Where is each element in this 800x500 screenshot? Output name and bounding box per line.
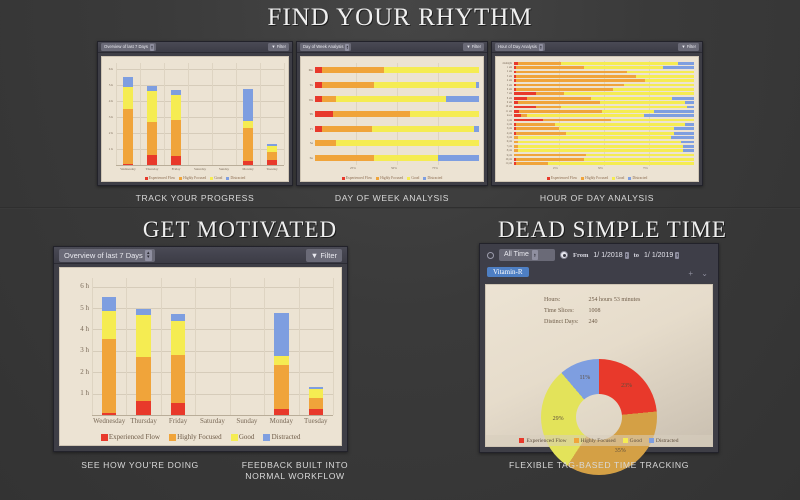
stepper-icon[interactable]: ▴▾ [675,252,679,259]
legend-item: Experienced Flow [145,176,175,180]
donut-legend: Experienced FlowHighly FocusedGoodDistra… [486,435,712,446]
legend-label: Good [214,176,222,180]
caption-flexible-tag-tracking: FLEXIBLE TAG-BASED TIME TRACKING [479,460,719,471]
bar-segment [147,91,157,122]
bar-segment [384,67,479,73]
titlebar: Overview of last 7 Days ▴▾ ▼ Filter [54,247,347,264]
y-axis-tick: 7 am [507,92,512,95]
bar-segment [267,144,277,146]
x-axis-tick: 25% [553,167,558,170]
y-axis-tick: 5 pm [507,136,512,139]
section-divider [0,207,800,209]
to-label: to [634,252,639,259]
legend-swatch [519,438,524,443]
bar-segment [683,145,694,148]
chart-canvas-day-of-week: 25%50%75%MoTuWeThFrSaSu Experienced Flow… [300,56,484,182]
bar-row [514,92,694,95]
bar-segment [171,95,181,121]
legend-label: Good [239,433,255,441]
chart-legend: Experienced FlowHighly FocusedGoodDistra… [60,433,341,441]
bar-column [309,278,323,415]
stepper-icon[interactable]: ▴▾ [532,250,538,260]
section-title-get-motivated: GET MOTIVATED [20,217,460,243]
bar-row [514,141,694,144]
legend-swatch [574,438,579,443]
page-title: FIND YOUR RHYTHM [0,4,800,32]
all-time-label: All Time [504,249,529,261]
legend-swatch [376,177,379,180]
bar-segment [322,96,337,102]
bar-segment [171,314,185,320]
y-axis-tick: 10 pm [505,158,512,161]
y-axis-tick: 4 h [109,99,113,103]
titlebar: Hour of Day Analysis ▴▾ ▼ Filter [492,42,702,53]
bar-segment [516,162,548,165]
caption-track-your-progress: TRACK YOUR PROGRESS [97,193,293,204]
legend-label: Distracted [272,433,301,441]
stats-value: 1008 [589,307,649,316]
bar-segment [446,96,479,102]
y-axis-tick: 3 am [507,75,512,78]
hod-dropdown[interactable]: Hour of Day Analysis ▴▾ [495,43,545,51]
bar-segment [644,114,694,117]
bar-segment [243,121,253,128]
y-axis-tick: Th [309,112,313,116]
legend-item: Distracted [628,176,647,180]
bar-segment [102,339,116,413]
y-axis-tick: 1 pm [507,119,512,122]
gridline [333,278,334,415]
overview-dropdown[interactable]: Overview of last 7 Days ▴▾ [101,43,156,51]
gridline [92,278,93,415]
stats-row: Time Slices:1008 [544,307,648,316]
gridline [116,63,117,165]
bar-segment [519,110,602,113]
gridline [188,63,189,165]
bar-segment [336,140,479,146]
bar-segment [611,119,694,122]
caption-feedback-line2: NORMAL WORKFLOW [225,471,365,482]
bar-segment [591,97,672,100]
bar-segment [267,152,277,160]
stats-key: Distinct Days: [544,318,587,327]
bar-segment [102,413,116,415]
legend-item: Experienced Flow [519,438,566,444]
bar-row [514,158,694,161]
gridline [140,63,141,165]
bar-segment [559,127,674,130]
bar-row [514,123,694,126]
stepper-icon[interactable]: ▴▾ [625,252,629,259]
y-axis-tick: 3 pm [507,127,512,130]
bar-segment [681,141,694,144]
bar-segment [123,77,133,87]
legend-label: Highly Focused [183,176,206,180]
legend-swatch [581,177,584,180]
bar-segment [136,315,150,357]
chart-legend: Experienced FlowHighly FocusedGoodDistra… [301,176,483,180]
donut-percent-label: 35% [612,448,628,454]
bar-segment [516,66,584,69]
y-axis-tick: 1 am [507,66,512,69]
bar-segment [514,119,543,122]
legend-swatch [423,177,426,180]
bar-segment [147,86,157,91]
bar-row [315,111,479,117]
legend-swatch [612,177,615,180]
bar-segment [518,145,684,148]
bar-column [205,278,219,415]
stepper-icon[interactable]: ▴▾ [345,44,349,51]
bar-segment [518,149,684,152]
bar-segment [274,365,288,409]
bar-segment [564,92,694,95]
window-track-your-progress[interactable]: Overview of last 7 Days ▴▾ ▼ Filter 1 h2… [97,41,293,186]
axis-line [92,415,333,416]
bar-segment [683,149,694,152]
y-axis-tick: We [309,98,313,102]
stats-value: 240 [589,318,649,327]
caption-day-of-week: DAY OF WEEK ANALYSIS [296,193,488,204]
legend-swatch [145,177,148,180]
y-axis-tick: 4 pm [507,132,512,135]
filter-label: Filter [277,44,286,49]
bar-segment [267,146,277,152]
bar-segment [333,111,410,117]
x-axis-tick: 25% [350,166,356,170]
stats-value: 254 hours 53 minutes [589,296,649,305]
bar-column [240,278,254,415]
legend-item: Distracted [423,176,442,180]
y-axis-tick: 1 h [109,147,113,151]
x-axis-tick: 50% [598,167,603,170]
bar-segment [518,141,682,144]
dow-dropdown[interactable]: Day of Week Analysis ▴▾ [300,43,351,51]
date-from-field[interactable]: 1/ 1/2018 ▴▾ [593,252,628,259]
funnel-icon: ▼ [311,251,318,260]
legend-label: Experienced Flow [149,176,175,180]
bar-row [514,149,694,152]
y-axis-tick: Su [310,156,313,160]
all-time-dropdown[interactable]: All Time ▴▾ [499,249,555,261]
bar-segment [136,309,150,315]
date-to-value: 1/ 1/2019 [644,252,673,259]
bar-segment [518,136,671,139]
bar-segment [171,156,181,165]
bar-segment [561,62,678,65]
legend-label: Distracted [428,176,443,180]
bar-segment [438,155,479,161]
bar-segment [309,398,323,409]
bar-segment [555,123,685,126]
bar-segment [243,161,253,165]
legend-item: Highly Focused [169,433,222,441]
plot-area: 25%50%75%midnight1 am2 am3 am4 am5 am6 a… [496,57,698,181]
plot-area: 1 h2 h3 h4 h5 h6 hWednesdayThursdayFrida… [102,57,288,181]
legend-swatch [231,434,238,441]
stats-key: Time Slices: [544,307,587,316]
gridline [126,278,127,415]
legend-label: Good [616,176,624,180]
legend-item: Good [612,176,624,180]
filter-label: Filter [472,44,481,49]
bar-column [267,63,277,165]
gridline [164,63,165,165]
bar-segment [600,101,685,104]
window-overview-7-days[interactable]: Overview of last 7 Days ▴▾ ▼ Filter 1 h2… [53,246,348,452]
bar-row [514,114,694,117]
overview-dropdown-large[interactable]: Overview of last 7 Days ▴▾ [59,249,155,262]
bar-segment [136,401,150,415]
filter-label: Filter [687,44,696,49]
bar-segment [516,84,624,87]
bar-segment [171,120,181,156]
bar-segment [171,403,185,415]
donut-percent-label: 23% [619,383,635,389]
bar-segment [322,67,384,73]
bar-segment [243,128,253,161]
chart-canvas-hour-of-day: 25%50%75%midnight1 am2 am3 am4 am5 am6 a… [495,56,699,182]
legend-swatch [226,177,229,180]
stepper-icon[interactable]: ▴▾ [145,250,152,261]
chart-canvas-overview-large: 1 h2 h3 h4 h5 h6 hWednesdayThursdayFrida… [59,267,342,446]
caption-feedback-line1: FEEDBACK BUILT INTO [225,460,365,471]
bar-segment [474,126,479,132]
legend-item: Highly Focused [376,176,403,180]
bar-row [514,97,694,100]
bar-column [171,63,181,165]
radio-range-off[interactable] [487,252,494,259]
legend-item: Good [623,438,642,444]
date-to-field[interactable]: 1/ 1/2019 ▴▾ [644,252,679,259]
bar-row [514,136,694,139]
bar-segment [514,154,586,157]
radio-range-on[interactable] [560,251,568,259]
bar-row [315,155,479,161]
x-axis-tick: 50% [391,166,397,170]
bar-row [514,127,694,130]
bar-segment [123,87,133,109]
y-axis-tick: 9 pm [507,154,512,157]
bar-segment [561,106,687,109]
bar-column [136,278,150,415]
bar-segment [322,82,374,88]
bar-row [315,96,479,102]
filter-button[interactable]: ▼ Filter [268,43,289,51]
bar-row [514,62,694,65]
bar-column [195,63,205,165]
bar-segment [476,82,479,88]
bar-segment [586,154,694,157]
bar-segment [685,123,694,126]
bar-segment [663,66,694,69]
bar-segment [514,92,536,95]
bar-segment [536,92,565,95]
stats-row: Distinct Days:240 [544,318,648,327]
legend-swatch [649,438,654,443]
dow-dropdown-label: Day of Week Analysis [303,43,343,51]
bar-segment [123,164,133,165]
bar-row [315,140,479,146]
legend-label: Good [630,438,642,444]
y-axis-tick: midnight [503,62,512,65]
chart-canvas-overview-small: 1 h2 h3 h4 h5 h6 hWednesdayThursdayFrida… [101,56,289,182]
bar-segment [514,97,527,100]
y-axis-tick: 6 am [507,88,512,91]
bar-segment [267,160,277,165]
y-axis-tick: 6 h [80,282,89,290]
y-axis-tick: 2 h [80,368,89,376]
bar-segment [602,110,654,113]
bar-segment [274,409,288,415]
from-label: From [573,252,588,259]
y-axis-tick: 2 pm [507,123,512,126]
hod-dropdown-label: Hour of Day Analysis [498,43,537,51]
bar-segment [687,106,694,109]
window-tag-time-tracking[interactable]: All Time ▴▾ From 1/ 1/2018 ▴▾ to 1/ 1/20… [479,243,719,453]
y-axis-tick: 11 am [506,110,512,113]
donut-percent-label: 11% [577,375,593,381]
tracking-body: Hours:254 hours 53 minutesTime Slices:10… [485,284,713,447]
bar-row [514,119,694,122]
y-axis-tick: 6 h [109,67,113,71]
bar-segment [374,82,476,88]
bar-row [315,67,479,73]
bar-row [315,126,479,132]
bar-segment [147,122,157,155]
y-axis-tick: 8 pm [507,149,512,152]
bar-row [514,84,694,87]
gridline [212,63,213,165]
bar-segment [102,311,116,340]
stepper-icon[interactable]: ▴▾ [539,44,543,51]
y-axis-tick: Mo [309,68,313,72]
bar-segment [613,88,694,91]
y-axis-tick: 5 h [80,304,89,312]
bar-row [514,101,694,104]
x-axis-tick: Tuesday [175,417,456,425]
titlebar: Day of Week Analysis ▴▾ ▼ Filter [297,42,487,53]
legend-item: Good [231,433,255,441]
legend-swatch [628,177,631,180]
legend-label: Distracted [633,176,648,180]
bar-segment [309,389,323,398]
chart-legend: Experienced FlowHighly FocusedGoodDistra… [496,176,698,180]
bar-column [102,278,116,415]
donut-chart: 23%35%29%11% [541,359,657,475]
filter-button[interactable]: ▼ Filter [678,43,699,51]
y-axis-tick: 6 pm [507,140,512,143]
legend-item: Experienced Flow [547,176,577,180]
legend-swatch [179,177,182,180]
legend-label: Highly Focused [581,438,616,444]
tag-vitamin-r[interactable]: Vitamin-R [487,267,529,277]
x-axis-tick: 75% [432,166,438,170]
y-axis-tick: 8 am [507,97,512,100]
legend-swatch [169,434,176,441]
gridline [236,63,237,165]
bar-segment [171,90,181,95]
bar-segment [171,321,185,355]
stats-row: Hours:254 hours 53 minutes [544,296,648,305]
bar-row [514,71,694,74]
bar-segment [410,111,479,117]
bar-segment [516,71,628,74]
axis-line [116,165,284,166]
y-axis-tick: 1 h [80,389,89,397]
bar-segment [516,123,556,126]
legend-swatch [263,434,270,441]
window-day-of-week-analysis[interactable]: Day of Week Analysis ▴▾ ▼ Filter 25%50%7… [296,41,488,186]
gridline [195,278,196,415]
window-hour-of-day-analysis[interactable]: Hour of Day Analysis ▴▾ ▼ Filter 25%50%7… [491,41,703,186]
bar-segment [336,96,446,102]
y-axis-tick: 4 h [80,325,89,333]
bar-segment [514,114,521,117]
bar-segment [516,75,637,78]
bar-segment [518,62,561,65]
legend-item: Good [210,176,222,180]
filter-button[interactable]: ▼ Filter [306,249,342,262]
date-from-value: 1/ 1/2018 [593,252,622,259]
funnel-icon: ▼ [681,44,685,49]
bar-segment [136,357,150,401]
bar-segment [322,126,373,132]
y-axis-tick: Sa [310,141,313,145]
overview-dropdown-label: Overview of last 7 Days [64,249,143,262]
bar-segment [584,66,663,69]
bar-segment [527,114,644,117]
bar-segment [678,62,694,65]
bar-row [514,132,694,135]
bar-segment [171,355,185,403]
legend-label: Highly Focused [585,176,608,180]
add-tag-controls[interactable]: + ⌄ [688,269,711,278]
bar-segment [636,75,694,78]
bar-column [147,63,157,165]
bar-row [514,162,694,165]
legend-swatch [101,434,108,441]
bar-segment [645,79,694,82]
legend-label: Highly Focused [177,433,222,441]
funnel-icon: ▼ [466,44,470,49]
bar-segment [516,88,613,91]
bar-row [514,145,694,148]
bar-segment [516,132,566,135]
bar-segment [672,97,694,100]
bar-row [514,79,694,82]
y-axis-tick: noon [507,114,512,117]
bar-column [243,63,253,165]
legend-label: Good [411,176,419,180]
bar-segment [516,127,559,130]
legend-swatch [210,177,213,180]
stats-table: Hours:254 hours 53 minutesTime Slices:10… [542,294,650,329]
bar-segment [123,109,133,164]
filter-button[interactable]: ▼ Filter [463,43,484,51]
y-axis-tick: 5 am [507,84,512,87]
bar-row [514,88,694,91]
legend-label: Distracted [656,438,679,444]
stepper-icon[interactable]: ▴▾ [150,44,154,51]
y-axis-tick: 4 am [507,79,512,82]
caption-feedback-builtin: FEEDBACK BUILT INTO NORMAL WORKFLOW [225,460,365,482]
bar-segment [516,79,646,82]
bar-segment [527,97,592,100]
caption-see-how-youre-doing: SEE HOW YOU'RE DOING [40,460,240,471]
bar-segment [674,132,694,135]
bar-row [514,66,694,69]
